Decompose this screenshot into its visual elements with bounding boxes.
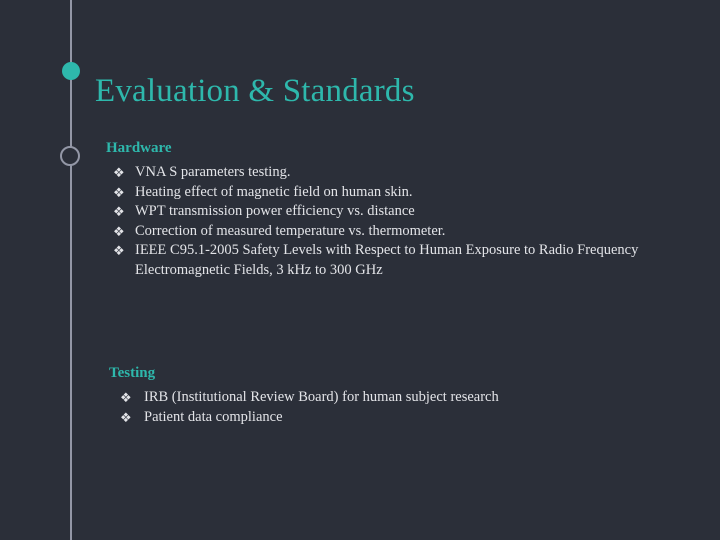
list-item-label: IEEE C95.1-2005 Safety Levels with Respe… [135,241,706,280]
timeline-rail-line [70,0,72,540]
diamond-bullet-icon: ❖ [113,202,135,222]
list-item: ❖ Heating effect of magnetic field on hu… [113,183,706,203]
slide-canvas: Evaluation & Standards Hardware ❖ VNA S … [0,0,720,540]
bullet-list-testing: ❖ IRB (Institutional Review Board) for h… [109,388,699,427]
page-title: Evaluation & Standards [95,71,415,111]
diamond-bullet-icon: ❖ [113,241,135,261]
list-item: ❖ Patient data compliance [120,408,699,428]
section-heading-hardware: Hardware [106,139,706,157]
section-heading-testing: Testing [109,364,699,382]
list-item: ❖ VNA S parameters testing. [113,163,706,183]
list-item-label: VNA S parameters testing. [135,163,706,183]
list-item: ❖ IRB (Institutional Review Board) for h… [120,388,699,408]
list-item: ❖ IEEE C95.1-2005 Safety Levels with Res… [113,241,706,280]
diamond-bullet-icon: ❖ [113,163,135,183]
diamond-bullet-icon: ❖ [120,388,144,408]
list-item-label: Patient data compliance [144,408,699,428]
list-item: ❖ WPT transmission power efficiency vs. … [113,202,706,222]
list-item-label: Correction of measured temperature vs. t… [135,222,706,242]
list-item-label: WPT transmission power efficiency vs. di… [135,202,706,222]
bullet-list-hardware: ❖ VNA S parameters testing. ❖ Heating ef… [106,163,706,280]
timeline-open-circle-icon [60,146,80,166]
diamond-bullet-icon: ❖ [113,183,135,203]
diamond-bullet-icon: ❖ [113,222,135,242]
list-item-label: IRB (Institutional Review Board) for hum… [144,388,699,408]
section-testing: Testing ❖ IRB (Institutional Review Boar… [109,364,699,427]
timeline-filled-dot-icon [62,62,80,80]
diamond-bullet-icon: ❖ [120,408,144,428]
section-hardware: Hardware ❖ VNA S parameters testing. ❖ H… [106,139,706,280]
list-item-label: Heating effect of magnetic field on huma… [135,183,706,203]
list-item: ❖ Correction of measured temperature vs.… [113,222,706,242]
